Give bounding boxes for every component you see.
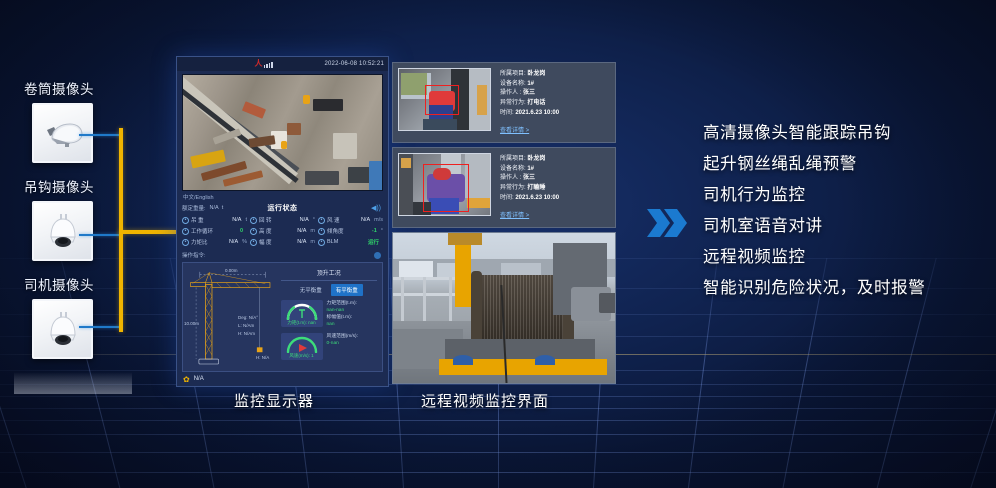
metric-value: -1: [372, 228, 377, 234]
grid-line-horizontal: [0, 384, 996, 385]
metric-value: 0: [240, 228, 243, 234]
metric-name: 力矩比: [191, 238, 208, 246]
grid-line-horizontal: [0, 434, 996, 435]
connector-wire-1: [79, 134, 121, 136]
condition-tabs: 无平衡重有平衡重: [279, 284, 379, 296]
feature-item: 司机室语音对讲: [703, 211, 925, 242]
metric-value: N/A: [297, 239, 306, 245]
command-label: 操作指令:: [182, 251, 206, 259]
metric-unit: °: [313, 217, 315, 223]
metric-unit: m: [310, 228, 315, 234]
caption-remote: 远程视频监控界面: [421, 390, 549, 411]
alert-field: 操作人 : 张三: [500, 89, 559, 99]
metric-name: 高 度: [259, 227, 272, 235]
metric-unit: m: [310, 239, 315, 245]
wind-gauge: 风速(m/s): 1: [281, 333, 323, 360]
alert-field: 异常行为: 打瞌睡: [500, 184, 559, 194]
alert-info: 所属项目: 卧龙岗 设备名称: 1# 操作人 : 张三 异常行为: 打瞌睡 时间…: [500, 153, 559, 222]
crane-schematic: 0.00m 10.00m Deg: N/A° L: N/Am H: N/Am H…: [183, 263, 277, 371]
camera-item-driver[interactable]: 司机摄像头: [14, 274, 132, 359]
metric-value: N/A: [232, 217, 241, 223]
metric-value: N/A: [297, 228, 306, 234]
torque-limit-title: 标幅值(t.m):: [327, 315, 357, 322]
language-toggle[interactable]: 中文/English: [183, 193, 388, 201]
rotate-icon: •: [250, 217, 257, 224]
metric-cell: •BLM运行: [318, 237, 383, 247]
feature-list: 高清摄像头智能跟踪吊钩起升钢丝绳乱绳预警司机行为监控司机室语音对讲远程视频监控智…: [703, 118, 925, 304]
rated-weight-value: N/A: [210, 205, 219, 211]
detection-box: [423, 164, 469, 212]
gear-icon: ✿: [183, 375, 190, 384]
wind-gauge-label: 风速(m/s): 1: [281, 353, 323, 359]
metric-value: N/A: [300, 217, 309, 223]
grid-line-horizontal: [0, 420, 996, 421]
feature-item: 高清摄像头智能跟踪吊钩: [703, 118, 925, 149]
command-row: 操作指令:: [182, 250, 383, 260]
cycle-icon: •: [182, 228, 189, 235]
connector-bus-horizontal: [119, 230, 177, 234]
metric-name: 回 转: [259, 216, 272, 224]
condition-title: 顶升工况: [279, 268, 379, 277]
alert-thumbnail[interactable]: [398, 153, 491, 216]
metric-cell: •力矩比N/A%: [182, 237, 247, 247]
metric-cell: •工作循环0: [182, 226, 247, 236]
torque-gauge: 力矩(t.m): nan: [281, 300, 323, 327]
radius-icon: •: [250, 239, 257, 246]
alert-field: 时间: 2021.6.23 10:00: [500, 109, 559, 119]
metric-value: N/A: [361, 217, 370, 223]
torque-range-title: 力矩范围(t.m):: [327, 301, 357, 308]
alert-card[interactable]: 所属项目: 卧龙岗 设备名称: 1# 操作人 : 张三 异常行为: 打电话 时间…: [392, 62, 616, 143]
monitor-footer: ✿ N/A: [177, 372, 388, 386]
metric-cell: •回 转N/A°: [250, 215, 315, 225]
bullet-camera-icon: [32, 103, 93, 163]
blm-icon: •: [318, 239, 325, 246]
camera-label: 司机摄像头: [24, 274, 132, 294]
height-icon: •: [250, 228, 257, 235]
status-title: 运行状态: [268, 203, 298, 213]
alert-field: 操作人 : 张三: [500, 174, 559, 184]
span-dimension: 0.00m: [225, 268, 238, 273]
metric-cell: •高 度N/Am: [250, 226, 315, 236]
camera-label: 卷筒摄像头: [24, 78, 132, 98]
feature-item: 起升钢丝绳乱绳预警: [703, 149, 925, 180]
icon-reflection: [14, 372, 132, 394]
remote-video-feed[interactable]: [392, 232, 616, 384]
alert-field: 时间: 2021.6.23 10:00: [500, 194, 559, 204]
double-chevron-right-icon: [645, 203, 689, 248]
metric-name: 工作循环: [191, 227, 213, 235]
command-indicator-icon: [374, 252, 381, 259]
view-details-link[interactable]: 查看详情 >: [500, 125, 529, 134]
caption-monitor: 监控显示器: [234, 390, 314, 411]
angle-readout-2: L: N/Am: [238, 323, 254, 328]
feature-item: 远程视频监控: [703, 242, 925, 273]
torque-limit-value: nan: [327, 322, 357, 329]
alert-card[interactable]: 所属项目: 卧龙岗 设备名称: 1# 操作人 : 张三 异常行为: 打瞌睡 时间…: [392, 147, 616, 228]
hook-icon: •: [182, 217, 189, 224]
monitor-timestamp: 2022-06-08 10:52:21: [324, 61, 384, 67]
alert-info: 所属项目: 卧龙岗 设备名称: 1# 操作人 : 张三 异常行为: 打电话 时间…: [500, 68, 559, 137]
wind-icon: •: [318, 217, 325, 224]
speaker-icon[interactable]: ◀)): [371, 204, 381, 212]
monitor-topbar: 人 2022-06-08 10:52:21: [177, 57, 388, 71]
metric-unit: m/s: [374, 217, 383, 223]
alert-thumbnail[interactable]: [398, 68, 491, 131]
camera-item-hook[interactable]: 吊钩摄像头: [14, 176, 132, 261]
metric-value: 运行: [368, 238, 379, 246]
angle-readout-3: H: N/Am: [238, 331, 255, 336]
alert-field: 设备名称: 1#: [500, 165, 559, 175]
site-camera-feed[interactable]: [182, 74, 383, 191]
connector-wire-3: [79, 326, 121, 328]
alert-field: 设备名称: 1#: [500, 80, 559, 90]
gauge-row-wind: 风速(m/s): 1 风速范围(m/s): 0-nan: [279, 333, 379, 360]
wind-range-title: 风速范围(m/s):: [327, 334, 358, 341]
monitor-data-panel: 额定重量: N/A t 运行状态 ◀)) •吊 重N/At•回 转N/A°•风 …: [182, 202, 383, 247]
gauge-row-torque: 力矩(t.m): nan 力矩范围(t.m): nan-nan 标幅值(t.m)…: [279, 300, 379, 329]
detection-box: [425, 85, 459, 115]
metric-value: N/A: [229, 239, 238, 245]
torque-icon: •: [182, 239, 189, 246]
metric-unit: %: [242, 239, 247, 245]
metric-cell: •幅 度N/Am: [250, 237, 315, 247]
grid-line-diagonal: [928, 258, 996, 488]
slide-canvas: 卷筒摄像头 吊钩摄像头: [0, 0, 996, 488]
condition-tab[interactable]: 无平衡重: [295, 284, 327, 296]
metrics-grid: •吊 重N/At•回 转N/A°•风 速N/Am/s•工作循环0•高 度N/Am…: [182, 215, 383, 247]
view-details-link[interactable]: 查看详情 >: [500, 210, 529, 219]
torque-gauge-label: 力矩(t.m): nan: [281, 320, 323, 326]
metric-name: 倾角度: [327, 227, 344, 235]
rated-weight-unit: t: [222, 205, 224, 211]
condition-tab[interactable]: 有平衡重: [331, 284, 363, 296]
grid-line-horizontal: [0, 452, 996, 453]
angle-readout-1: Deg: N/A°: [238, 315, 258, 320]
metric-cell: •吊 重N/At: [182, 215, 247, 225]
grid-line-horizontal: [0, 472, 996, 473]
metric-name: BLM: [327, 239, 338, 245]
angle-icon: •: [318, 228, 325, 235]
wind-meta: 风速范围(m/s): 0-nan: [327, 333, 358, 360]
monitor-display[interactable]: 人 2022-06-08 10:52:21 中文: [176, 56, 389, 387]
condition-pane: 顶升工况 无平衡重有平衡重 力矩(t.m): nan 力矩范: [277, 263, 382, 371]
metric-name: 吊 重: [191, 216, 204, 224]
dome-camera-icon: [32, 299, 93, 359]
alert-field: 异常行为: 打电话: [500, 99, 559, 109]
connector-wire-2: [79, 234, 121, 236]
metric-cell: •倾角度-1°: [318, 226, 383, 236]
metric-cell: •风 速N/Am/s: [318, 215, 383, 225]
signal-bars-icon: 人: [255, 60, 273, 68]
crane-diagram-panel: 0.00m 10.00m Deg: N/A° L: N/Am H: N/Am H…: [182, 262, 383, 372]
alert-field: 所属项目: 卧龙岗: [500, 155, 559, 165]
data-panel-header: 额定重量: N/A t 运行状态 ◀)): [182, 202, 383, 213]
height-dimension: 10.00m: [184, 321, 199, 326]
divider: [281, 280, 377, 281]
feature-item: 司机行为监控: [703, 180, 925, 211]
metric-unit: °: [381, 228, 383, 234]
metric-name: 幅 度: [259, 238, 272, 246]
feature-item: 智能识别危险状况，及时报警: [703, 273, 925, 304]
dome-camera-icon: [32, 201, 93, 261]
hook-readout: H: N/A: [256, 355, 269, 360]
metric-name: 风 速: [327, 216, 340, 224]
metric-unit: t: [245, 217, 247, 223]
footer-value: N/A: [194, 376, 204, 382]
torque-meta: 力矩范围(t.m): nan-nan 标幅值(t.m): nan: [327, 300, 357, 329]
camera-item-drum[interactable]: 卷筒摄像头: [14, 78, 132, 163]
camera-label: 吊钩摄像头: [24, 176, 132, 196]
rated-weight-label: 额定重量:: [182, 204, 206, 212]
wind-range-value: 0-nan: [327, 341, 358, 348]
alert-field: 所属项目: 卧龙岗: [500, 70, 559, 80]
